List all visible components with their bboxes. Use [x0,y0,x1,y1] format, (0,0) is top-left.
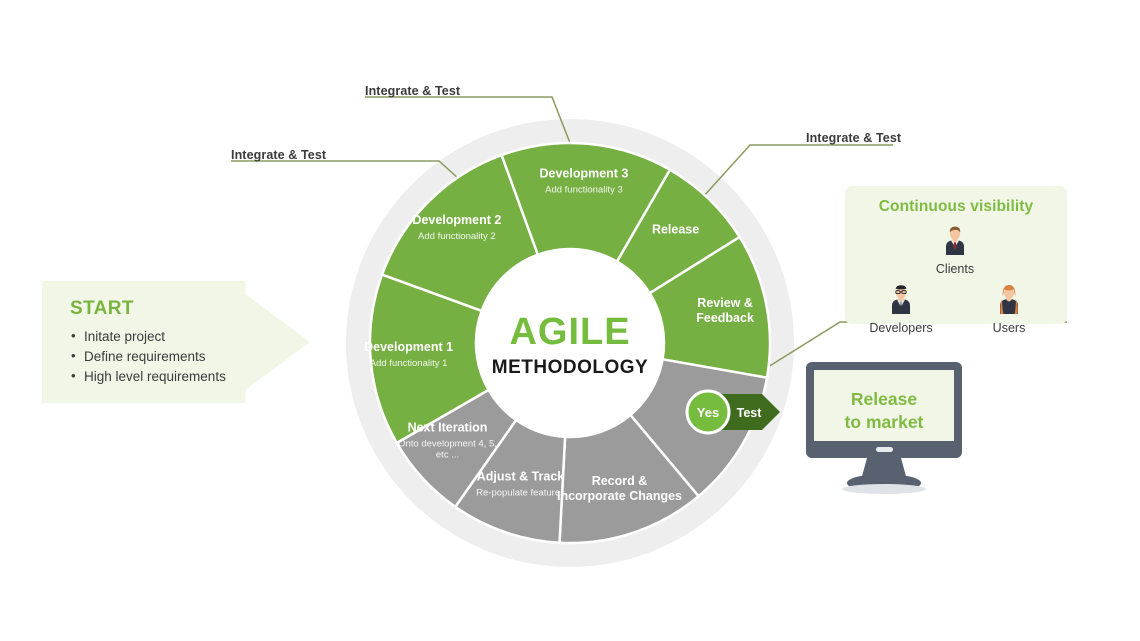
continuous-visibility-panel: Continuous visibility Clients [845,186,1067,324]
segment-label-title: Development 3 [539,167,628,181]
test-label: Test [737,406,763,420]
label-integrate-test-right: Integrate & Test [806,131,901,145]
segment-label-title: Development 1 [364,340,453,354]
developers-person-icon [856,284,946,314]
segment-label-group: Release [652,223,699,237]
developers-label: Developers [856,321,946,335]
segment-label-sub: Add functionality 1 [370,358,448,369]
hub-subtitle: METHODOLOGY [492,357,648,378]
start-item-1: Define requirements [70,347,226,367]
segment-label-sub: Add functionality 2 [418,231,496,242]
segment-label-sub: Re-populate features [476,488,565,499]
users-person-icon [964,284,1054,314]
start-bullet-list: Initate project Define requirements High… [70,327,226,387]
start-item-0: Initate project [70,327,226,347]
segment-label-title: Incorporate Changes [557,489,682,503]
segment-label-sub: etc ... [436,450,459,461]
label-integrate-test-top: Integrate & Test [365,84,460,98]
segment-label-title: Adjust & Track [477,470,565,484]
person-developers: Developers [856,284,946,335]
segment-label-title: Development 2 [412,213,501,227]
segment-label-group: Review &Feedback [696,296,754,325]
start-title: START [70,298,226,320]
segment-label-title: Review & [697,296,753,310]
visibility-title: Continuous visibility [845,198,1067,216]
segment-label-sub: Add functionality 3 [545,185,623,196]
monitor-illustration: Release to market [806,362,962,494]
segment-label-sub: Onto development 4, 5, [398,439,497,450]
monitor-power-led [876,447,893,452]
segment-label-title: Release [652,223,699,237]
diagram-canvas: Development 1Add functionality 1Developm… [0,0,1140,641]
users-label: Users [964,321,1054,335]
start-callout: START Initate project Define requirement… [42,281,310,403]
hub-title: AGILE [509,311,630,353]
clients-label: Clients [910,262,1000,276]
monitor-screen [814,370,954,441]
segment-label-title: Record & [592,474,648,488]
segment-label-title: Next Iteration [408,421,488,435]
yes-label: Yes [697,405,719,420]
person-users: Users [964,284,1054,335]
monitor-svg [806,362,962,494]
start-item-2: High level requirements [70,367,226,387]
person-clients: Clients [910,225,1000,276]
label-integrate-test-left: Integrate & Test [231,148,326,162]
clients-person-icon [910,225,1000,255]
segment-label-title: Feedback [696,311,754,325]
monitor-shadow [842,484,926,494]
